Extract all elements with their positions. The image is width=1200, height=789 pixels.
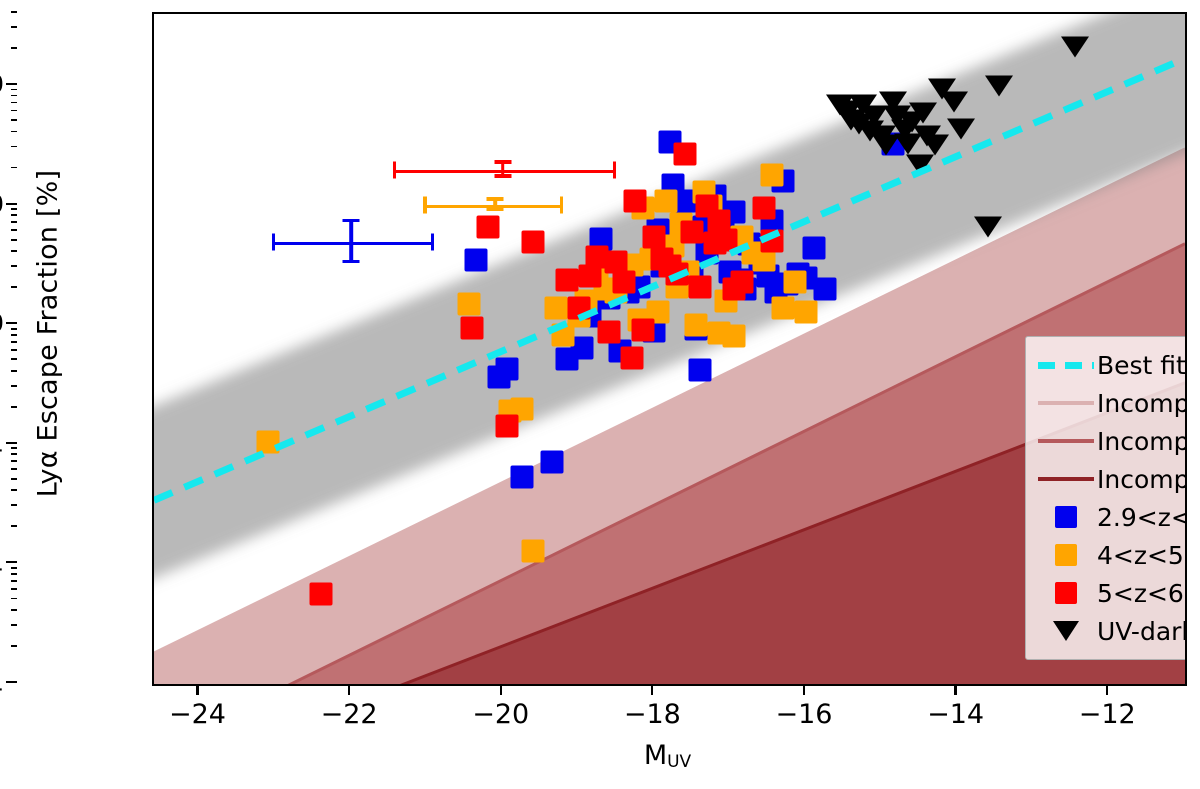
errorbar-horizontal <box>272 242 435 246</box>
y-axis-minor-tick <box>11 525 17 527</box>
y-axis-minor-tick <box>11 504 17 506</box>
y-axis-tick-label: 10 <box>0 309 4 338</box>
y-axis-minor-tick <box>11 334 17 336</box>
y-axis-minor-tick <box>11 406 17 408</box>
y-axis-minor-tick <box>11 598 17 600</box>
legend-square-icon <box>1055 506 1077 528</box>
y-axis-minor-tick <box>11 286 17 288</box>
legend-line-icon <box>1038 477 1094 480</box>
errorbar-cap-y <box>494 174 511 178</box>
y-axis-minor-tick <box>11 328 17 330</box>
x-axis-tick-label: −22 <box>321 699 378 730</box>
y-axis-tick-label: 100 <box>0 189 4 218</box>
errorbar-cap-y <box>343 260 360 264</box>
legend-line-icon <box>1038 439 1094 442</box>
y-axis-minor-tick <box>11 102 17 104</box>
y-axis-minor-tick <box>11 26 17 28</box>
y-axis-label: Lyα Escape Fraction [%] <box>33 4 64 664</box>
x-axis-tick-label: −14 <box>927 699 984 730</box>
y-axis-minor-tick <box>11 573 17 575</box>
legend-item-label: Incomp. μ = 1.5 <box>1097 389 1187 418</box>
y-axis-minor-tick <box>11 349 17 351</box>
y-axis-minor-tick <box>11 624 17 626</box>
y-axis-minor-tick <box>11 208 17 210</box>
y-axis-minor-tick <box>11 239 17 241</box>
y-axis-minor-tick <box>11 214 17 216</box>
plot-area: Best fitIncomp. μ = 1.5Incomp. μ = 9Inco… <box>152 12 1187 686</box>
y-axis-minor-tick <box>11 341 17 343</box>
y-axis-minor-tick <box>11 489 17 491</box>
y-axis-minor-tick <box>11 47 17 49</box>
y-axis-tick-label: 1 <box>0 428 4 457</box>
y-axis-minor-tick <box>11 370 17 372</box>
errorbar-cap-x <box>431 233 435 250</box>
x-axis-tick-label: −12 <box>1079 699 1136 730</box>
legend-item[interactable]: 5<z<6.7 <box>1035 574 1187 612</box>
representative-errorbar <box>272 219 435 264</box>
legend-item[interactable]: Best fit <box>1035 346 1187 384</box>
errorbar-cap-y <box>487 207 504 211</box>
y-axis-tick <box>6 561 17 563</box>
y-axis-minor-tick <box>11 110 17 112</box>
y-axis-minor-tick <box>11 588 17 590</box>
figure-canvas: Lyα Escape Fraction [%] MUV 0.010.111010… <box>0 0 1200 789</box>
representative-errorbar <box>393 160 617 178</box>
y-axis-minor-tick <box>11 478 17 480</box>
y-axis-tick <box>6 442 17 444</box>
y-axis-minor-tick <box>11 167 17 169</box>
errorbar-cap-y <box>487 197 504 201</box>
y-axis-minor-tick <box>11 385 17 387</box>
representative-errorbar <box>423 197 563 211</box>
y-axis-tick-label: 0.01 <box>0 668 4 697</box>
y-axis-tick <box>6 681 17 683</box>
legend-item-label: Best fit <box>1097 351 1186 380</box>
x-axis-tick-label: −24 <box>169 699 226 730</box>
y-axis-tick <box>6 203 17 205</box>
legend-item-label: 5<z<6.7 <box>1097 579 1187 608</box>
y-axis-minor-tick <box>11 95 17 97</box>
errorbar-cap-y <box>494 160 511 164</box>
legend-item-label: 2.9<z<4 <box>1097 503 1187 532</box>
y-axis-minor-tick <box>11 146 17 148</box>
y-axis-minor-tick <box>11 221 17 223</box>
legend-item-label: UV-dark LAEs <box>1097 617 1187 646</box>
errorbar-vertical <box>349 219 353 264</box>
legend-item[interactable]: 2.9<z<4 <box>1035 498 1187 536</box>
errorbar-cap-x <box>393 161 397 178</box>
legend-item-label: 4<z<5 <box>1097 541 1184 570</box>
legend[interactable]: Best fitIncomp. μ = 1.5Incomp. μ = 9Inco… <box>1025 336 1187 660</box>
x-axis-tick-label: −18 <box>624 699 681 730</box>
y-axis-minor-tick <box>11 460 17 462</box>
y-axis-minor-tick <box>11 265 17 267</box>
legend-item-label: Incomp. μ = 9 <box>1097 427 1187 456</box>
legend-item[interactable]: Incomp. μ = 137 <box>1035 460 1187 498</box>
y-axis-minor-tick <box>11 358 17 360</box>
y-axis-minor-tick <box>11 447 17 449</box>
y-axis-minor-tick <box>11 468 17 470</box>
y-axis-minor-tick <box>11 567 17 569</box>
legend-triangle-icon <box>1053 621 1079 641</box>
y-axis-minor-tick <box>11 250 17 252</box>
legend-dashed-line-icon <box>1038 362 1094 369</box>
y-axis-minor-tick <box>11 609 17 611</box>
y-axis-minor-tick <box>11 453 17 455</box>
errorbar-cap-x <box>272 233 276 250</box>
y-axis-tick-label: 0.1 <box>0 548 4 577</box>
legend-item[interactable]: 4<z<5 <box>1035 536 1187 574</box>
y-axis-minor-tick <box>11 131 17 133</box>
y-axis-minor-tick <box>11 580 17 582</box>
y-axis-minor-tick <box>11 89 17 91</box>
y-axis-minor-tick <box>11 645 17 647</box>
y-axis-tick <box>6 83 17 85</box>
legend-square-icon <box>1055 582 1077 604</box>
legend-item-label: Incomp. μ = 137 <box>1097 465 1187 494</box>
y-axis-minor-tick <box>11 11 17 13</box>
errorbar-cap-x <box>560 196 564 213</box>
x-axis-label-main: M <box>644 740 667 771</box>
x-axis-tick-label: −20 <box>472 699 529 730</box>
errorbar-cap-x <box>423 196 427 213</box>
y-axis-tick <box>6 322 17 324</box>
legend-square-icon <box>1055 544 1077 566</box>
errorbar-cap-x <box>613 161 617 178</box>
legend-item[interactable]: Incomp. μ = 9 <box>1035 422 1187 460</box>
x-axis-label-sub: UV <box>667 752 691 772</box>
legend-line-icon <box>1038 401 1094 404</box>
y-axis-tick-label: 1000 <box>0 70 4 99</box>
x-axis-tick-label: −16 <box>775 699 832 730</box>
x-axis-label: MUV <box>152 740 1183 772</box>
y-axis-minor-tick <box>11 119 17 121</box>
errorbar-horizontal <box>393 170 617 174</box>
errorbar-cap-y <box>343 219 360 223</box>
y-axis-minor-tick <box>11 229 17 231</box>
legend-item[interactable]: Incomp. μ = 1.5 <box>1035 384 1187 422</box>
legend-item[interactable]: UV-dark LAEs <box>1035 612 1187 650</box>
